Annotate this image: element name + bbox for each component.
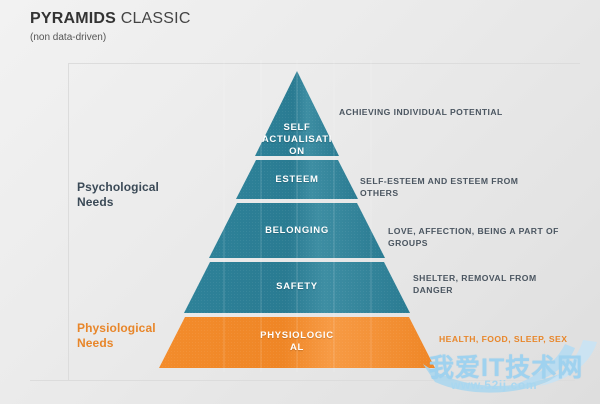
description-self-actualisation: ACHIEVING INDIVIDUAL POTENTIAL (339, 106, 535, 118)
pyramid-label-self-actualisation: SELF ACTUALISATI ON (212, 122, 382, 158)
group-line-1: Physiological (77, 321, 156, 335)
pyramid-label-physiological: PHYSIOLOGIC AL (212, 330, 382, 354)
description-esteem: SELF-ESTEEM AND ESTEEM FROM OTHERS (360, 175, 556, 199)
label-overflow: ON (289, 146, 305, 157)
watermark-url: www.52ij.com (451, 378, 537, 392)
pyramid-label-belonging: BELONGING (212, 225, 382, 237)
label-line-2: AL (290, 342, 304, 353)
label-line-1: SELF (283, 122, 310, 133)
group-line-2: Needs (77, 336, 114, 350)
group-line-1: Psychological (77, 180, 159, 194)
pyramid-label-safety: SAFETY (212, 281, 382, 293)
label-line-1: SAFETY (276, 281, 318, 292)
group-line-2: Needs (77, 195, 114, 209)
description-belonging: LOVE, AFFECTION, BEING A PART OF GROUPS (388, 225, 564, 249)
label-line-1: BELONGING (265, 225, 329, 236)
description-safety: SHELTER, REMOVAL FROM DANGER (413, 272, 573, 296)
pyramid-label-esteem: ESTEEM (212, 174, 382, 186)
label-line-2: ACTUALISATI (262, 134, 332, 145)
watermark: 我爱IT技术网 www.52ij.com (415, 338, 600, 404)
label-line-1: ESTEEM (275, 174, 318, 185)
group-label-physiological: Physiological Needs (77, 321, 156, 351)
label-line-1: PHYSIOLOGIC (260, 330, 334, 341)
group-label-psychological: Psychological Needs (77, 180, 159, 210)
